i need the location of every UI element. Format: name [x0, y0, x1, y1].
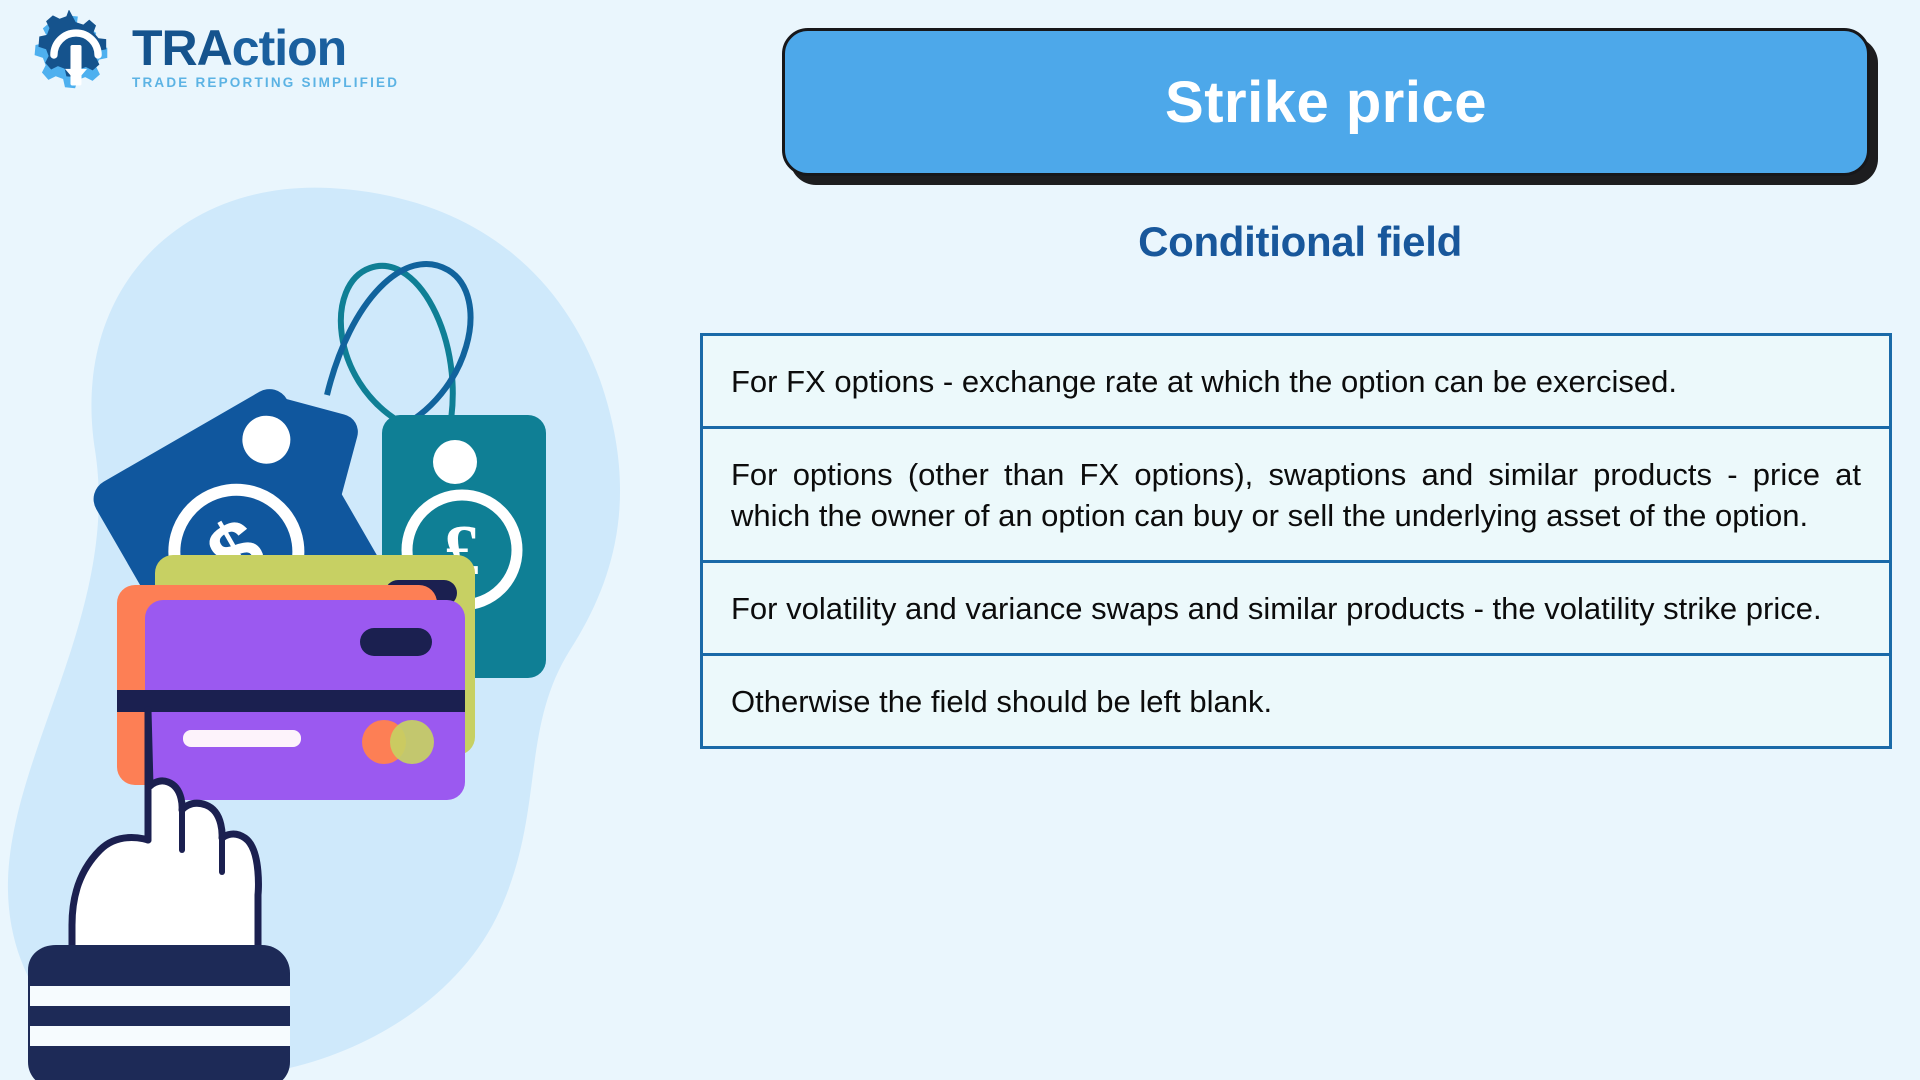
title-banner: Strike price [782, 28, 1870, 176]
infographic-page: TRAction TRADE REPORTING SIMPLIFIED Stri… [0, 0, 1920, 1080]
table-row-text: For volatility and variance swaps and si… [731, 589, 1861, 629]
table-row: For volatility and variance swaps and si… [703, 563, 1889, 656]
logo-word: TRAction [132, 23, 399, 73]
table-row-text: For options (other than FX options), swa… [731, 455, 1861, 536]
table-row: Otherwise the field should be left blank… [703, 656, 1889, 746]
page-title: Strike price [1165, 69, 1487, 136]
table-row: For FX options - exchange rate at which … [703, 336, 1889, 429]
traction-logo: TRAction TRADE REPORTING SIMPLIFIED [30, 10, 399, 102]
logo-tagline: TRADE REPORTING SIMPLIFIED [132, 76, 399, 90]
credit-card-front [117, 600, 465, 800]
table-row: For options (other than FX options), swa… [703, 429, 1889, 563]
logo-wordmark: TRAction TRADE REPORTING SIMPLIFIED [132, 23, 399, 90]
title-banner-wrapper: Strike price [782, 28, 1870, 176]
logo-word-ction: ction [232, 20, 346, 76]
table-row-text: Otherwise the field should be left blank… [731, 682, 1861, 722]
logo-word-tra: TRA [132, 20, 232, 76]
field-type-subtitle: Conditional field [700, 218, 1900, 266]
sleeve-cuff [28, 945, 290, 1080]
definition-table: For FX options - exchange rate at which … [700, 333, 1892, 749]
table-row-text: For FX options - exchange rate at which … [731, 362, 1861, 402]
gear-arrow-logo-icon [30, 10, 122, 102]
price-tag-illustration: £ $ [0, 150, 700, 1080]
card-magnetic-stripe [117, 690, 465, 712]
